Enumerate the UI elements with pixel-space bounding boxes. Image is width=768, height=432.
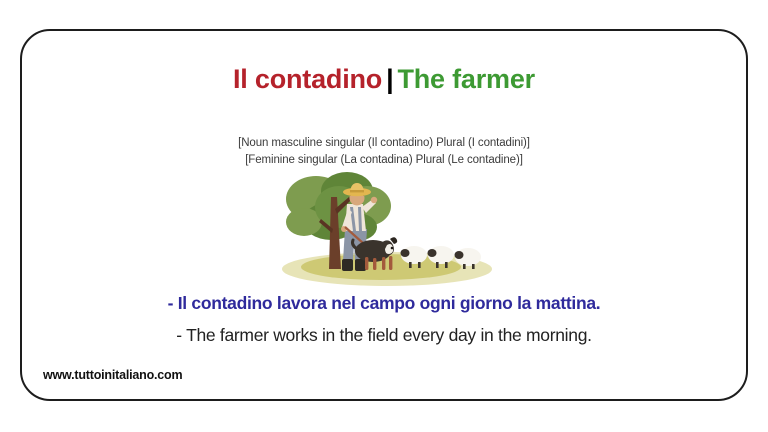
dog-leg-1 <box>365 257 368 270</box>
grammar-note-feminine: [Feminine singular (La contadina) Plural… <box>22 152 746 169</box>
vocabulary-flashcard: Il contadino|The farmer [Noun masculine … <box>20 29 748 401</box>
grammar-notes: [Noun masculine singular (Il contadino) … <box>22 135 746 169</box>
title-separator-bar: | <box>386 64 393 94</box>
grammar-note-masculine: [Noun masculine singular (Il contadino) … <box>22 135 746 152</box>
farmer-boot-right <box>355 259 366 271</box>
site-url: www.tuttoinitaliano.com <box>43 368 182 382</box>
dog-leg-4 <box>389 256 392 270</box>
example-sentence-italian: - Il contadino lavora nel campo ogni gio… <box>22 293 746 314</box>
title-italian-term: Il contadino <box>233 64 382 94</box>
example-sentence-english: - The farmer works in the field every da… <box>22 325 746 346</box>
farmer-illustration <box>269 169 499 294</box>
dog-leg-2 <box>373 258 376 270</box>
page-title: Il contadino|The farmer <box>22 64 746 95</box>
title-english-term: The farmer <box>397 64 535 94</box>
farmer-boot-left <box>342 259 353 271</box>
dog-leg-3 <box>382 257 385 270</box>
